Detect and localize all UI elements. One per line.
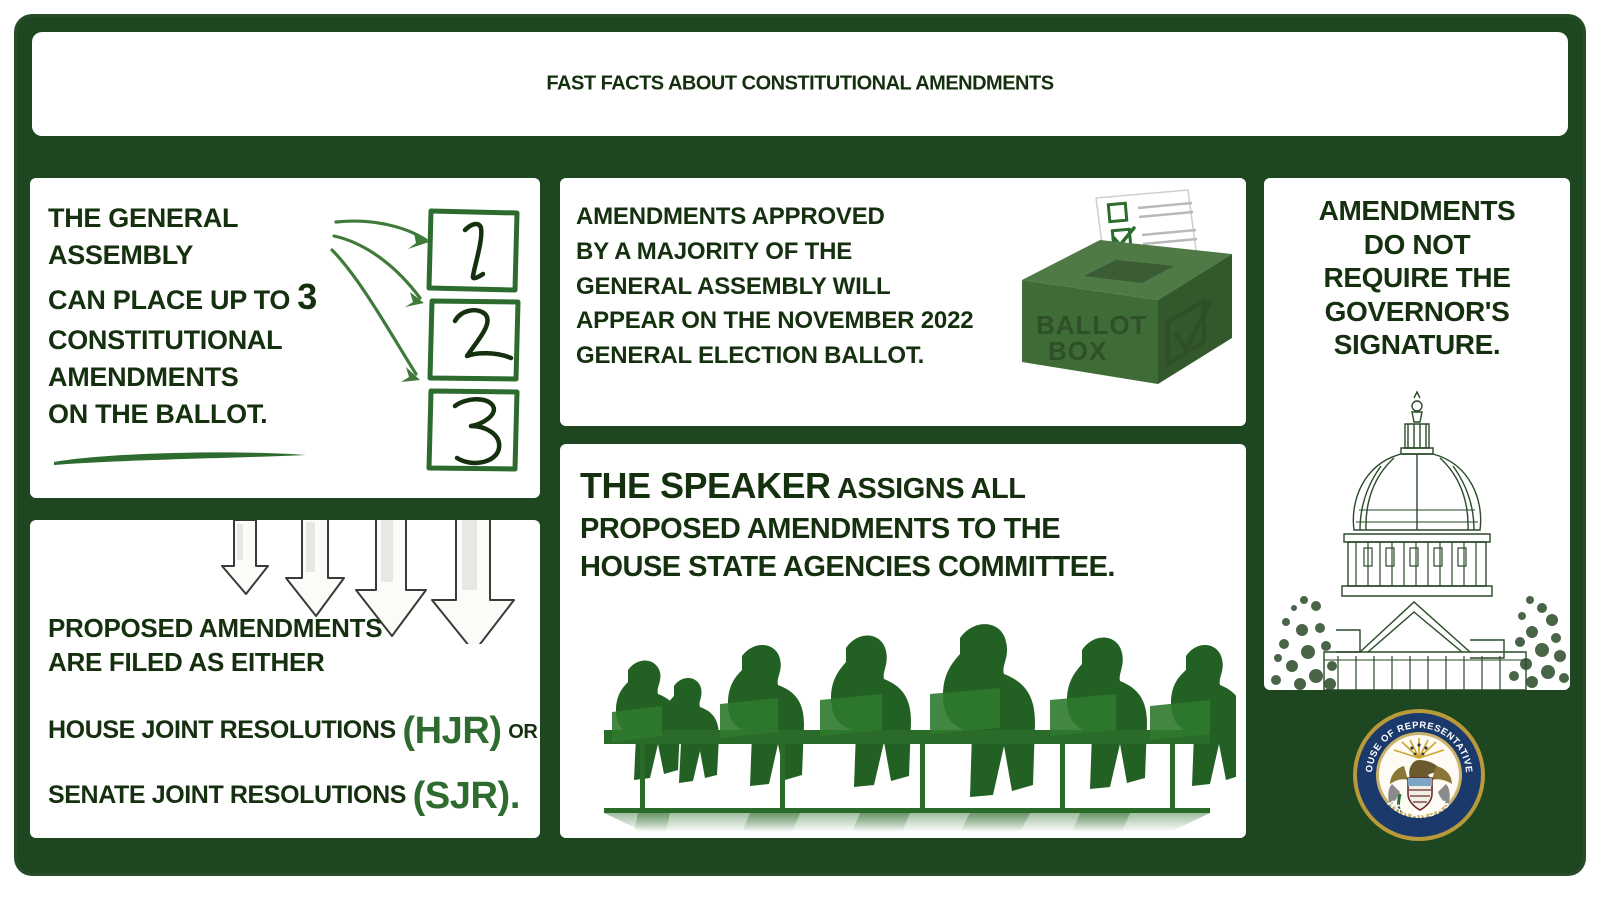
filed-sjr-line: SENATE JOINT RESOLUTIONS (SJR). (48, 775, 528, 818)
capitol-building-icon (1264, 390, 1570, 690)
hjr-label: HOUSE JOINT RESOLUTIONS (48, 716, 396, 744)
title-card: FAST FACTS ABOUT CONSTITUTIONAL AMENDMEN… (32, 32, 1568, 136)
filed-line-2: ARE FILED AS EITHER (48, 647, 324, 677)
filed-line-1: PROPOSED AMENDMENTS (48, 613, 382, 643)
governor-line-2: DO NOT (1364, 229, 1470, 260)
panel-proposed-amendments: PROPOSED AMENDMENTS ARE FILED AS EITHER … (30, 520, 540, 838)
curved-arrows-icon (330, 216, 440, 421)
speaker-line-3: HOUSE STATE AGENCIES COMMITTEE. (580, 551, 1115, 583)
panel-speaker: THE SPEAKER ASSIGNS ALL PROPOSED AMENDME… (560, 444, 1246, 838)
ballot-box-label-2: BOX (1048, 336, 1107, 366)
assembly-line-1: THE GENERAL ASSEMBLY (48, 203, 238, 270)
governor-text: AMENDMENTS DO NOT REQUIRE THE GOVERNOR'S… (1272, 194, 1562, 362)
speaker-emphasis: THE SPEAKER (580, 465, 831, 506)
assembly-text: THE GENERAL ASSEMBLY CAN PLACE UP TO 3 C… (48, 200, 348, 433)
ballot-line-4: APPEAR ON THE NOVEMBER 2022 (576, 307, 973, 334)
governor-line-4: GOVERNOR'S (1325, 296, 1510, 327)
speaker-rest-1: ASSIGNS ALL (837, 473, 1025, 505)
checkbox-list-icon (425, 206, 525, 478)
underline-swoosh-icon (52, 450, 308, 466)
sjr-abbr: (SJR) (413, 775, 510, 817)
assembly-line-4: AMENDMENTS (48, 362, 239, 392)
assembly-line-2: CAN PLACE UP TO (48, 285, 290, 315)
ballot-text: AMENDMENTS APPROVED BY A MAJORITY OF THE… (576, 200, 1036, 374)
assembly-line-5: ON THE BALLOT. (48, 399, 267, 429)
ballot-line-5: GENERAL ELECTION BALLOT. (576, 342, 924, 369)
hjr-abbr: (HJR) (402, 710, 501, 752)
governor-line-3: REQUIRE THE (1324, 262, 1511, 293)
speaker-line-2: PROPOSED AMENDMENTS TO THE (580, 513, 1060, 545)
governor-line-5: SIGNATURE. (1334, 329, 1501, 360)
panel-ballot-approval: AMENDMENTS APPROVED BY A MAJORITY OF THE… (560, 178, 1246, 426)
hjr-or: OR (508, 721, 537, 743)
committee-silhouette-icon (570, 594, 1236, 832)
ballot-line-2: BY A MAJORITY OF THE (576, 238, 852, 265)
speaker-text: THE SPEAKER ASSIGNS ALL PROPOSED AMENDME… (580, 462, 1230, 586)
ballot-line-3: GENERAL ASSEMBLY WILL (576, 273, 891, 300)
panel-general-assembly: THE GENERAL ASSEMBLY CAN PLACE UP TO 3 C… (30, 178, 540, 498)
ballot-box-icon: BALLOT BOX (992, 184, 1242, 409)
assembly-number: 3 (297, 276, 317, 317)
filed-hjr-line: HOUSE JOINT RESOLUTIONS (HJR) OR (48, 710, 528, 753)
filed-text-top: PROPOSED AMENDMENTS ARE FILED AS EITHER (48, 612, 518, 680)
ballot-line-1: AMENDMENTS APPROVED (576, 203, 885, 230)
sjr-period: . (510, 775, 520, 817)
panel-governor: AMENDMENTS DO NOT REQUIRE THE GOVERNOR'S… (1264, 178, 1570, 690)
page-title: FAST FACTS ABOUT CONSTITUTIONAL AMENDMEN… (32, 73, 1568, 96)
arkansas-house-seal: HOUSE OF REPRESENTATIVES ARKANSAS (1352, 708, 1486, 842)
governor-line-1: AMENDMENTS (1319, 195, 1516, 226)
infographic-root: FAST FACTS ABOUT CONSTITUTIONAL AMENDMEN… (0, 0, 1600, 900)
sjr-label: SENATE JOINT RESOLUTIONS (48, 781, 406, 809)
assembly-line-3: CONSTITUTIONAL (48, 325, 282, 355)
